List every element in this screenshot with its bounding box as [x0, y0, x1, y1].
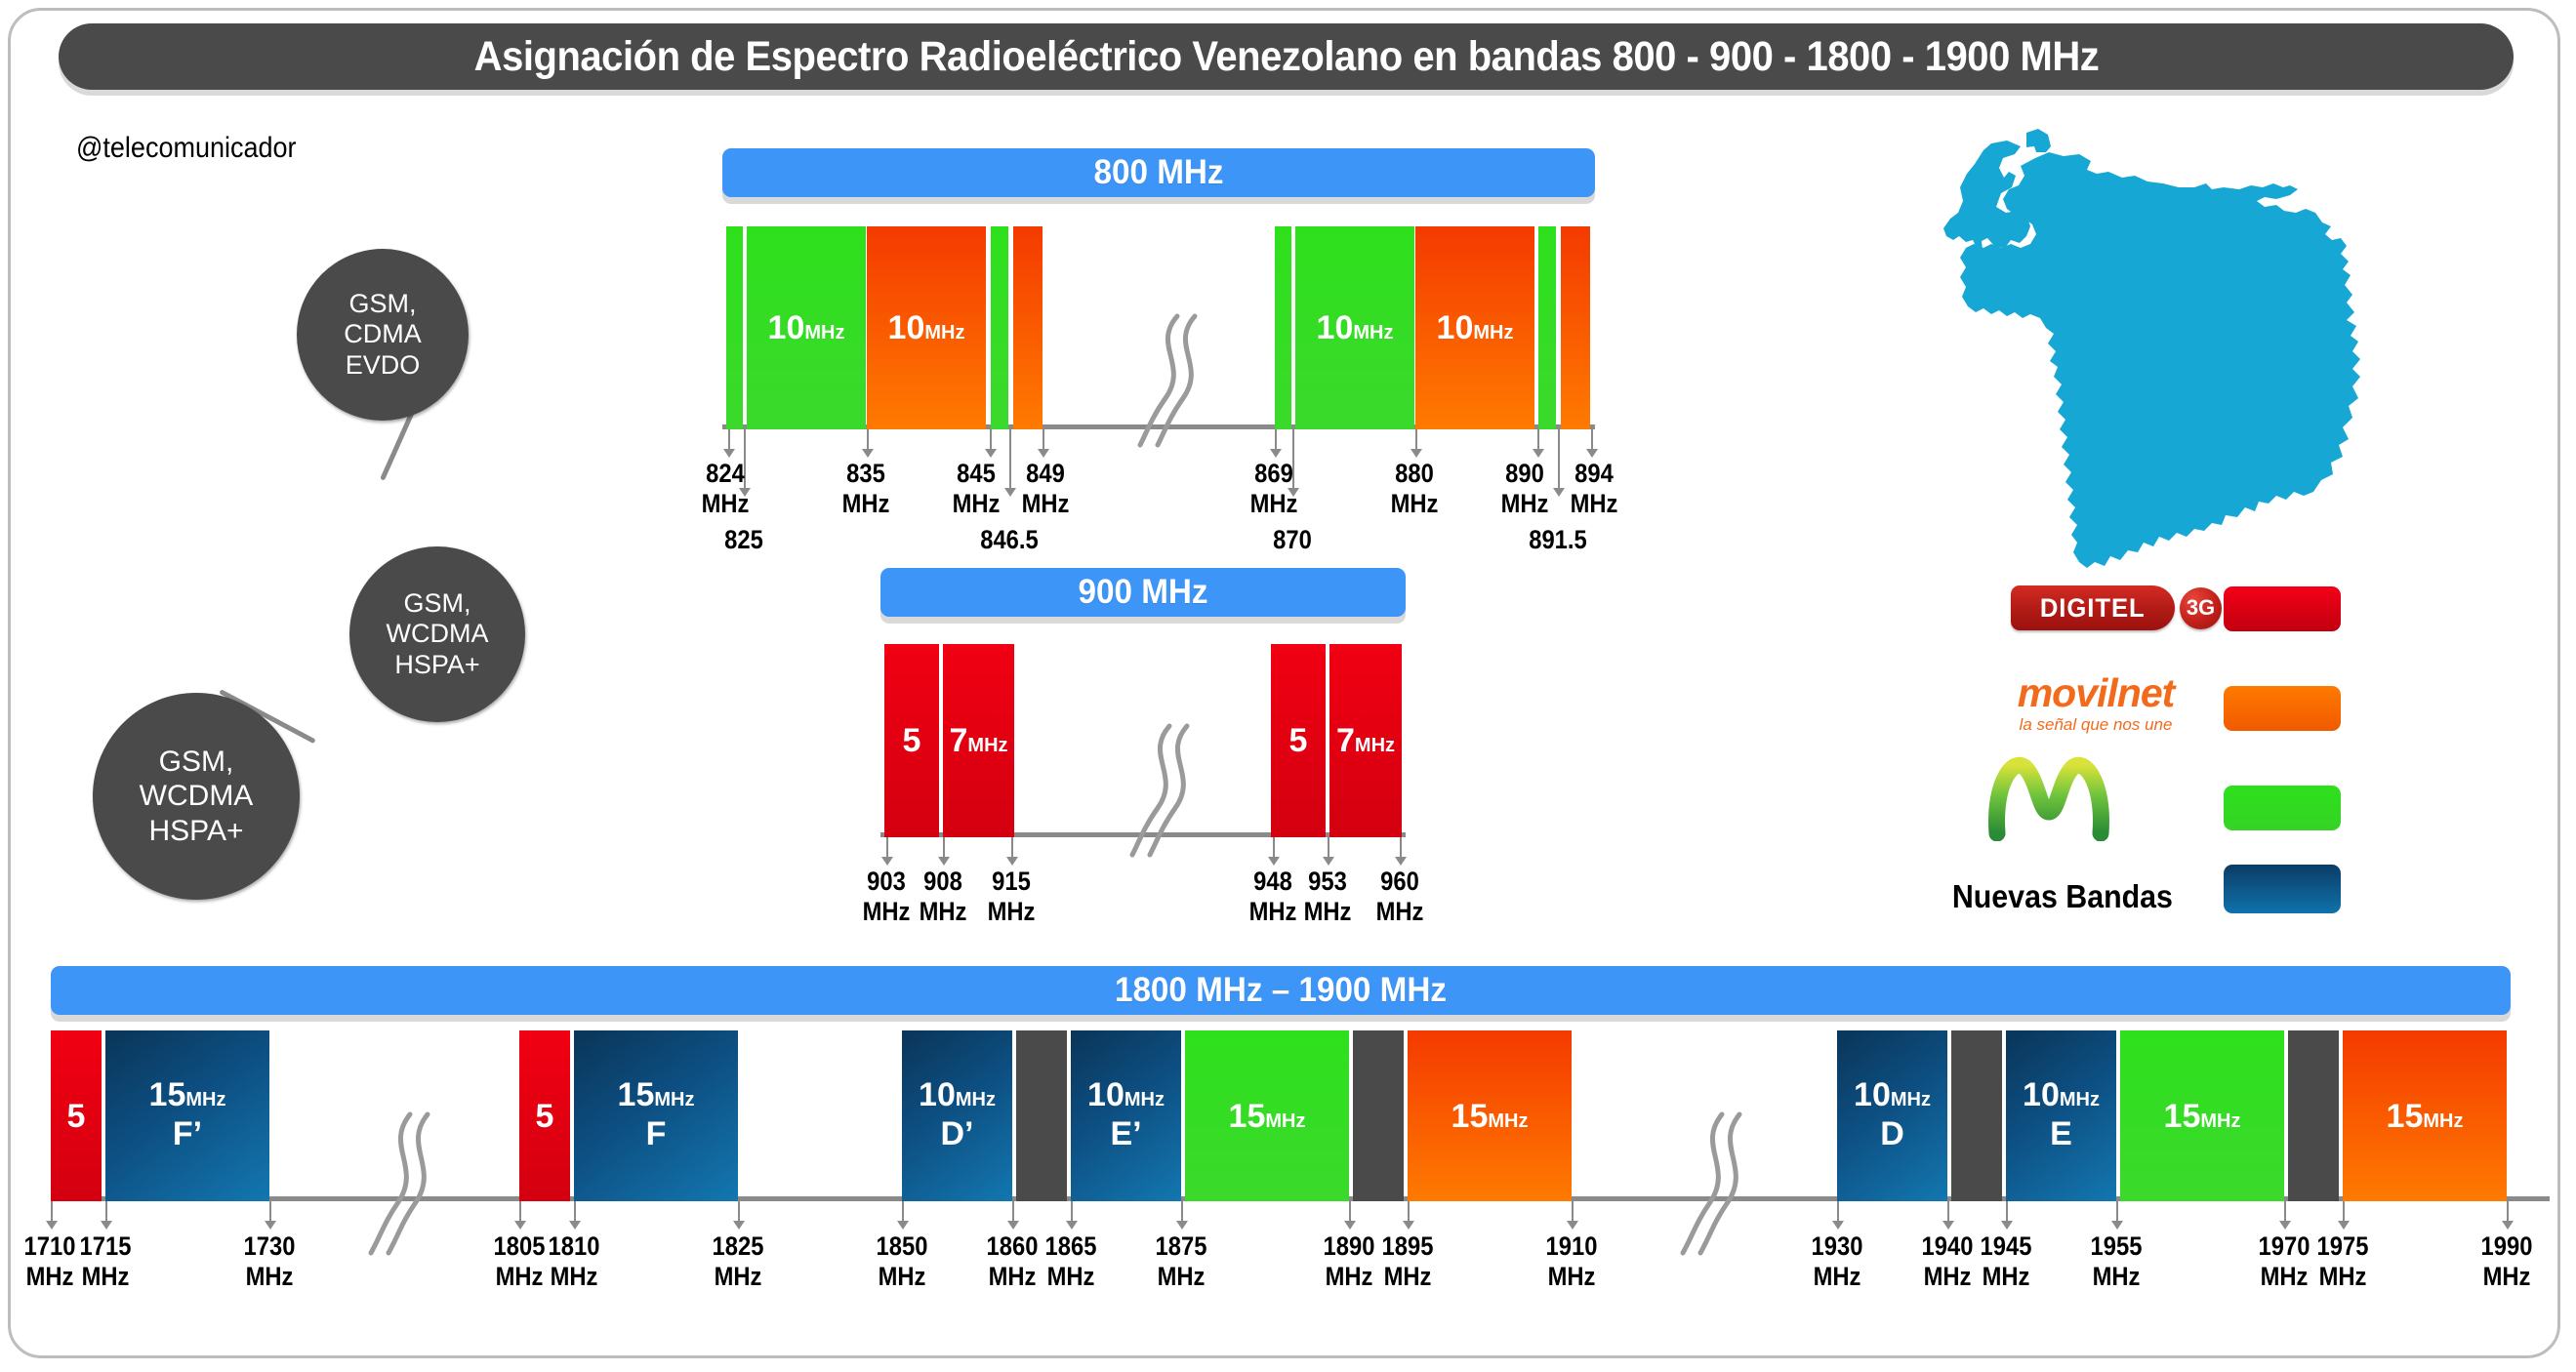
block-1715-1730[interactable]: 15MHz F’: [105, 1030, 269, 1201]
block-sub-label: F: [646, 1115, 667, 1152]
block-width-label: 10MHz: [1437, 311, 1514, 344]
block-1945-1955[interactable]: 10MHz E: [2006, 1030, 2116, 1201]
movilnet-tagline: la señal que nos une: [1983, 715, 2208, 735]
freq-label-894: 894 MHz: [1547, 459, 1642, 519]
block-sub-label: E’: [1110, 1115, 1141, 1152]
freq-label-1990: 1990 MHz: [2460, 1231, 2555, 1292]
legend-swatch-movilnet[interactable]: [2224, 686, 2341, 731]
block-width-label: 15MHz: [1452, 1100, 1529, 1133]
freq-label-1730: 1730 MHz: [223, 1231, 317, 1292]
block-908-915[interactable]: 7MHz: [943, 644, 1014, 837]
block-1710-1715[interactable]: 5: [51, 1030, 102, 1201]
block-953-960[interactable]: 7MHz: [1329, 644, 1402, 837]
block-869-870[interactable]: [1275, 226, 1291, 429]
block-width-label: 7MHz: [949, 724, 1007, 757]
venezuela-map: [1835, 117, 2382, 585]
freq-label-1810: 1810 MHz: [527, 1231, 622, 1292]
block-835-845[interactable]: 10MHz: [867, 226, 986, 429]
digitel-wordmark: DIGITEL: [2011, 585, 2175, 630]
block-width-label: 7MHz: [1336, 724, 1395, 757]
infographic-root: Asignación de Espectro Radioeléctrico Ve…: [0, 0, 2576, 1372]
block-1875-1890[interactable]: 15MHz: [1185, 1030, 1349, 1201]
page-title: Asignación de Espectro Radioeléctrico Ve…: [473, 33, 2099, 81]
block-1810-1825[interactable]: 15MHz F: [574, 1030, 738, 1201]
freq-label-960: 960 MHz: [1353, 867, 1448, 927]
freq-label-8465: 846.5: [962, 525, 1057, 555]
block-width-label: 5: [67, 1100, 86, 1133]
block-8465-849[interactable]: [1013, 226, 1043, 429]
freq-label-1865: 1865 MHz: [1024, 1231, 1119, 1292]
freq-label-1825: 1825 MHz: [691, 1231, 786, 1292]
freq-label-835: 835 MHz: [819, 459, 914, 519]
tech-bubble-gsm-wcdma-hspa-low: GSM, WCDMA HSPA+: [93, 693, 300, 900]
block-width-label: 15MHz: [618, 1078, 695, 1111]
freq-label-1975: 1975 MHz: [2296, 1231, 2391, 1292]
tech-bubble-label: GSM, WCDMA HSPA+: [387, 588, 489, 681]
block-1895-1910[interactable]: 15MHz: [1408, 1030, 1572, 1201]
author-handle: @telecomunicador: [76, 132, 297, 165]
tech-bubble-gsm-wcdma-hspa-mid: GSM, WCDMA HSPA+: [349, 546, 525, 722]
freq-label-915: 915 MHz: [964, 867, 1059, 927]
freq-label-1875: 1875 MHz: [1134, 1231, 1229, 1292]
block-1850-1860[interactable]: 10MHz D’: [902, 1030, 1012, 1201]
block-1805-1810[interactable]: 5: [519, 1030, 570, 1201]
block-sub-label: F’: [173, 1115, 202, 1152]
freq-label-849: 849 MHz: [999, 459, 1093, 519]
block-sub-label: D: [1880, 1115, 1904, 1152]
block-width-label: 5: [536, 1100, 554, 1133]
block-1865-1875[interactable]: 10MHz E’: [1071, 1030, 1181, 1201]
block-1860-1865[interactable]: [1016, 1030, 1067, 1201]
digitel-logo-text: DIGITEL: [2040, 593, 2146, 624]
freq-label-824: 824 MHz: [678, 459, 773, 519]
block-1955-1970[interactable]: 15MHz: [2120, 1030, 2284, 1201]
block-width-label: 5: [903, 724, 921, 757]
block-903-908[interactable]: 5: [884, 644, 939, 837]
block-845-8465[interactable]: [991, 226, 1008, 429]
movilnet-logo: movilnet la señal que nos une: [1983, 673, 2208, 735]
freq-label-870: 870: [1246, 525, 1340, 555]
freq-label-8915: 891.5: [1511, 525, 1606, 555]
block-width-label: 10MHz: [1317, 311, 1394, 344]
band-header-800: 800 MHz: [722, 148, 1595, 197]
freq-label-1895: 1895 MHz: [1361, 1231, 1455, 1292]
band-800-break-squiggle: [1132, 312, 1220, 449]
band-header-900-label: 900 MHz: [1078, 573, 1207, 612]
freq-label-1910: 1910 MHz: [1525, 1231, 1619, 1292]
block-sub-label: E: [2050, 1115, 2072, 1152]
block-1940-1945[interactable]: [1951, 1030, 2002, 1201]
band-1800-break-squiggle-right: [1673, 1110, 1761, 1257]
band-1800-break-squiggle-left: [361, 1110, 449, 1257]
block-1930-1940[interactable]: 10MHz D: [1837, 1030, 1947, 1201]
block-880-890[interactable]: 10MHz: [1415, 226, 1534, 429]
legend-swatch-nuevas-bandas[interactable]: [2224, 865, 2341, 913]
block-1975-1990[interactable]: 15MHz: [2343, 1030, 2507, 1201]
block-sub-label: D’: [941, 1115, 974, 1152]
freq-label-1945: 1945 MHz: [1959, 1231, 2054, 1292]
block-1890-1895[interactable]: [1353, 1030, 1404, 1201]
band-header-1800-1900: 1800 MHz – 1900 MHz: [51, 966, 2511, 1015]
block-width-label: 10MHz: [2023, 1078, 2100, 1111]
freq-label-869: 869 MHz: [1227, 459, 1322, 519]
legend-swatch-movistar[interactable]: [2224, 786, 2341, 830]
page-title-bar: Asignación de Espectro Radioeléctrico Ve…: [59, 23, 2514, 90]
tech-bubble-gsm-cdma-evdo: GSM, CDMA EVDO: [297, 249, 469, 421]
block-width-label: 15MHz: [2164, 1100, 2241, 1133]
block-width-label: 15MHz: [1229, 1100, 1306, 1133]
digitel-3g-text: 3G: [2187, 595, 2215, 621]
block-width-label: 10MHz: [768, 311, 845, 344]
block-width-label: 10MHz: [919, 1078, 996, 1111]
freq-label-1955: 1955 MHz: [2069, 1231, 2164, 1292]
block-width-label: 10MHz: [888, 311, 965, 344]
movilnet-logo-text: movilnet: [1983, 673, 2208, 713]
freq-label-825: 825: [697, 525, 792, 555]
freq-label-1930: 1930 MHz: [1790, 1231, 1885, 1292]
block-825-835[interactable]: 10MHz: [747, 226, 866, 429]
tech-bubble-label: GSM, WCDMA HSPA+: [140, 745, 254, 847]
digitel-logo: DIGITEL 3G: [2011, 585, 2222, 630]
legend-label-nuevas-bandas: Nuevas Bandas: [1952, 878, 2173, 915]
block-width-label: 15MHz: [149, 1078, 226, 1111]
freq-label-1850: 1850 MHz: [855, 1231, 950, 1292]
block-890-8915[interactable]: [1538, 226, 1556, 429]
block-1970-1975[interactable]: [2288, 1030, 2339, 1201]
band-900-break-squiggle: [1124, 722, 1212, 859]
legend-swatch-digitel[interactable]: [2224, 586, 2341, 631]
block-870-880[interactable]: 10MHz: [1295, 226, 1414, 429]
block-width-label: 15MHz: [2387, 1100, 2464, 1133]
block-8915-894[interactable]: [1561, 226, 1590, 429]
band-header-1800-1900-label: 1800 MHz – 1900 MHz: [1115, 971, 1447, 1010]
block-948-953[interactable]: 5: [1271, 644, 1326, 837]
freq-label-1715: 1715 MHz: [59, 1231, 153, 1292]
movistar-logo-icon: [1985, 751, 2112, 841]
digitel-3g-badge: 3G: [2180, 587, 2222, 629]
block-824-825[interactable]: [726, 226, 743, 429]
freq-label-880: 880 MHz: [1368, 459, 1462, 519]
band-header-800-label: 800 MHz: [1093, 153, 1223, 192]
band-header-900: 900 MHz: [880, 568, 1406, 617]
tech-bubble-label: GSM, CDMA EVDO: [344, 289, 422, 382]
block-width-label: 5: [1289, 724, 1308, 757]
block-width-label: 10MHz: [1087, 1078, 1165, 1111]
block-width-label: 10MHz: [1854, 1078, 1931, 1111]
